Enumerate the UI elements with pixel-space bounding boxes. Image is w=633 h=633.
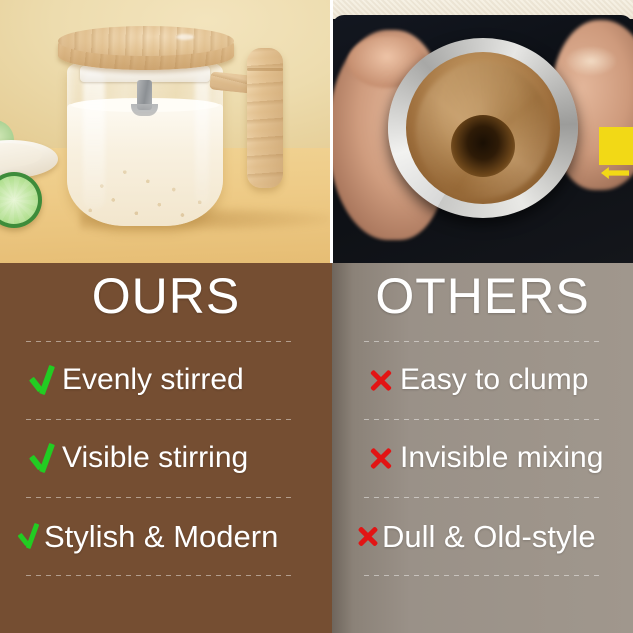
list-item: Visible stirring bbox=[0, 419, 332, 497]
steel-mug-vortex-photo bbox=[332, 0, 633, 263]
handle-seam bbox=[247, 68, 283, 71]
feature-label: Easy to clump bbox=[400, 365, 588, 395]
wooden-lid-top bbox=[58, 26, 234, 56]
row-divider bbox=[26, 497, 292, 498]
feature-label: Dull & Old-style bbox=[382, 521, 596, 552]
row-divider bbox=[364, 497, 603, 498]
green-check-icon bbox=[14, 523, 44, 549]
coffee-vortex bbox=[451, 115, 515, 177]
coffee-surface bbox=[406, 52, 560, 204]
row-divider bbox=[26, 341, 292, 342]
row-divider-bottom bbox=[364, 575, 603, 576]
red-cross-icon bbox=[352, 524, 382, 549]
panel-ours: OURS Evenly stirred Visible stirring bbox=[0, 263, 332, 633]
list-item: Evenly stirred bbox=[0, 341, 332, 419]
row-divider bbox=[364, 419, 603, 420]
comparison-graphic: OURS Evenly stirred Visible stirring bbox=[0, 0, 633, 633]
green-check-icon bbox=[22, 365, 62, 395]
feature-label: Invisible mixing bbox=[400, 443, 603, 473]
feature-list-ours: Evenly stirred Visible stirring Stylish … bbox=[0, 341, 332, 575]
green-check-icon bbox=[22, 443, 62, 473]
glass-stirring-mug-photo bbox=[0, 0, 332, 263]
lime-core bbox=[8, 194, 20, 206]
photo-divider bbox=[330, 0, 333, 263]
yellow-block bbox=[599, 127, 633, 165]
list-item: Stylish & Modern bbox=[0, 497, 332, 575]
lid-highlight bbox=[176, 34, 194, 40]
yellow-arrow-icon bbox=[601, 167, 629, 179]
yellow-arrow-badge bbox=[595, 127, 633, 189]
glass-highlight-left bbox=[83, 70, 105, 210]
row-divider bbox=[364, 341, 603, 342]
red-cross-icon bbox=[360, 366, 400, 394]
row-divider-bottom bbox=[26, 575, 292, 576]
feature-label: Stylish & Modern bbox=[44, 521, 278, 552]
glass-highlight-right bbox=[195, 76, 209, 206]
comparison-panels: OURS Evenly stirred Visible stirring bbox=[0, 263, 633, 633]
panel-title-ours: OURS bbox=[0, 271, 374, 321]
list-item: Invisible mixing bbox=[332, 419, 633, 497]
panel-title-others: OTHERS bbox=[332, 271, 633, 321]
feature-label: Visible stirring bbox=[62, 443, 248, 473]
list-item: Dull & Old-style bbox=[332, 497, 633, 575]
red-cross-icon bbox=[360, 444, 400, 472]
photo-row bbox=[0, 0, 633, 263]
list-item: Easy to clump bbox=[332, 341, 633, 419]
feature-label: Evenly stirred bbox=[62, 365, 244, 395]
feature-list-others: Easy to clump Invisible mixing Dull & Ol… bbox=[332, 341, 633, 575]
coffee-highlight bbox=[565, 46, 617, 76]
panel-others: OTHERS Easy to clump Invisible mixing bbox=[332, 263, 633, 633]
row-divider bbox=[26, 419, 292, 420]
